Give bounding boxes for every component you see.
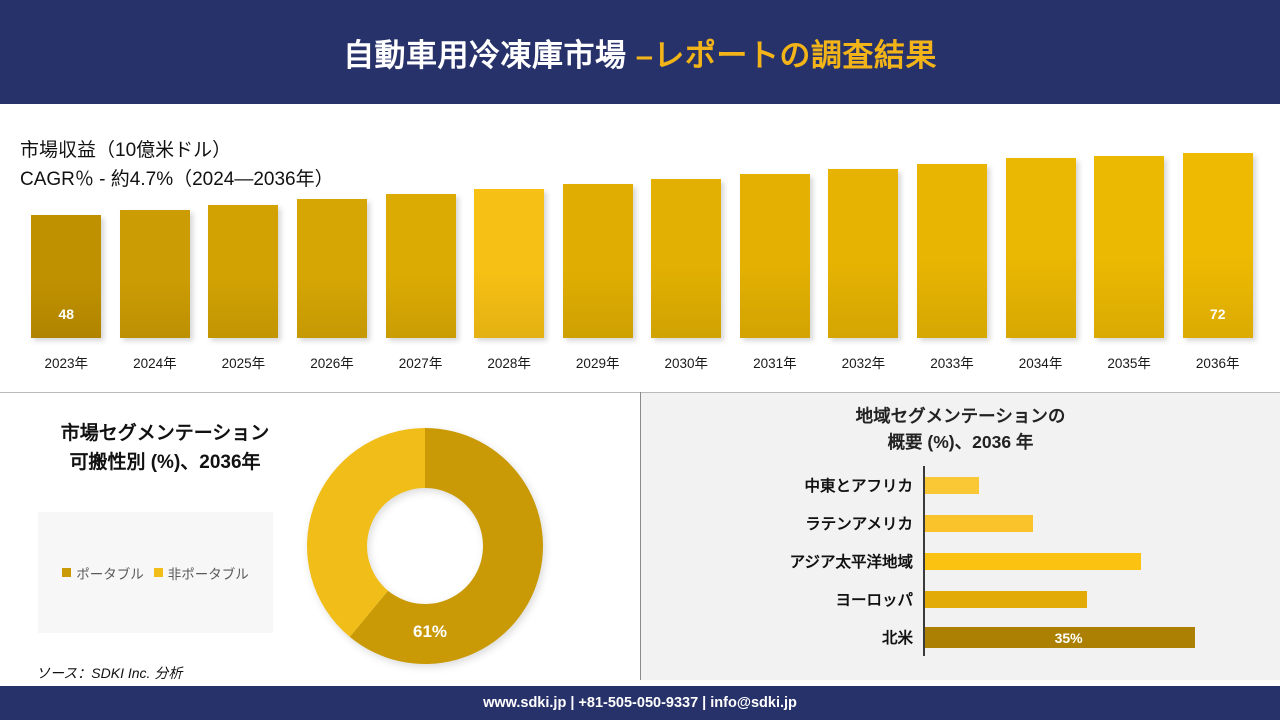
- source-note: ソース：SDKI Inc. 分析: [36, 663, 182, 683]
- legend-label: ポータブル: [76, 563, 144, 583]
- x-axis-label: 2024年: [112, 352, 198, 372]
- x-axis-label: 2030年: [643, 352, 729, 372]
- region-row: ラテンアメリカ: [641, 504, 1280, 542]
- header-title-main: 自動車用冷凍庫市場: [343, 38, 636, 73]
- bar-column: [740, 174, 810, 338]
- regional-bar-chart: 中東とアフリカラテンアメリカアジア太平洋地域ヨーロッパ北米35%: [641, 466, 1280, 666]
- donut-panel-title: 市場セグメンテーション 可搬性別 (%)、2036年: [0, 419, 330, 478]
- region-bar-3: [925, 591, 1087, 608]
- bar-column: 72: [1183, 153, 1253, 338]
- bar-2027年: [386, 194, 456, 338]
- bar-value-label: 48: [31, 306, 101, 322]
- region-label-0: 中東とアフリカ: [641, 466, 913, 504]
- donut-legend-items: ポータブル非ポータブル: [38, 563, 273, 583]
- x-axis-label: 2031年: [732, 352, 818, 372]
- legend-swatch-icon: [154, 568, 163, 577]
- region-label-4: 北米: [641, 618, 913, 656]
- market-revenue-section: 市場収益（10億米ドル） CAGR％ - 約4.7%（2024―2036年） 4…: [0, 104, 1280, 392]
- bar-2026年: [297, 199, 367, 338]
- x-axis-label: 2036年: [1175, 352, 1261, 372]
- region-row: 北米35%: [641, 618, 1280, 656]
- header-title-accent: –レポートの調査結果: [636, 38, 937, 73]
- infographic-page: 自動車用冷凍庫市場 –レポートの調査結果 市場収益（10億米ドル） CAGR％ …: [0, 0, 1280, 720]
- bar-2030年: [651, 179, 721, 338]
- donut-svg: 61%: [300, 426, 550, 666]
- x-axis-label: 2023年: [23, 352, 109, 372]
- bar-column: [1094, 156, 1164, 338]
- bar-column: 48: [31, 215, 101, 338]
- bar-column: [828, 169, 898, 338]
- bar-2028年: [474, 189, 544, 338]
- bar-2036年: 72: [1183, 153, 1253, 338]
- bar-column: [651, 179, 721, 338]
- bar-x-axis-labels: 2023年2024年2025年2026年2027年2028年2029年2030年…: [22, 346, 1262, 372]
- bar-column: [120, 210, 190, 338]
- bar-2034年: [1006, 158, 1076, 338]
- region-title-line2: 概要 (%)、2036 年: [641, 429, 1280, 455]
- bar-value-label: 72: [1183, 306, 1253, 322]
- bar-column: [1006, 158, 1076, 338]
- x-axis-label: 2033年: [909, 352, 995, 372]
- region-panel-title: 地域セグメンテーションの 概要 (%)、2036 年: [641, 403, 1280, 456]
- bar-column: [917, 164, 987, 338]
- region-title-line1: 地域セグメンテーションの: [641, 403, 1280, 429]
- donut-title-line2: 可搬性別 (%)、2036年: [0, 448, 330, 477]
- bar-series: 4872: [22, 138, 1262, 338]
- bar-column: [386, 194, 456, 338]
- region-label-2: アジア太平洋地域: [641, 542, 913, 580]
- region-row: アジア太平洋地域: [641, 542, 1280, 580]
- bar-column: [297, 199, 367, 338]
- bar-2031年: [740, 174, 810, 338]
- bar-2032年: [828, 169, 898, 338]
- footer-contact: www.sdki.jp | +81-505-050-9337 | info@sd…: [483, 695, 797, 711]
- bar-2023年: 48: [31, 215, 101, 338]
- bar-column: [208, 205, 278, 338]
- bar-2025年: [208, 205, 278, 338]
- region-bar-0: [925, 477, 979, 494]
- region-bar-1: [925, 515, 1033, 532]
- header-title: 自動車用冷凍庫市場 –レポートの調査結果: [343, 30, 937, 75]
- page-header: 自動車用冷凍庫市場 –レポートの調査結果: [0, 0, 1280, 104]
- bar-column: [563, 184, 633, 338]
- bar-2033年: [917, 164, 987, 338]
- bar-2029年: [563, 184, 633, 338]
- region-row: 中東とアフリカ: [641, 466, 1280, 504]
- x-axis-label: 2032年: [820, 352, 906, 372]
- x-axis-label: 2035年: [1086, 352, 1172, 372]
- region-label-3: ヨーロッパ: [641, 580, 913, 618]
- bar-2035年: [1094, 156, 1164, 338]
- donut-chart: 61%: [300, 426, 550, 666]
- region-value-label: 35%: [1055, 630, 1083, 646]
- legend-item-1: 非ポータブル: [154, 563, 249, 583]
- x-axis-label: 2027年: [378, 352, 464, 372]
- region-bar-4: 35%: [925, 627, 1195, 648]
- x-axis-label: 2028年: [466, 352, 552, 372]
- legend-swatch-icon: [62, 568, 71, 577]
- legend-label: 非ポータブル: [168, 563, 249, 583]
- x-axis-label: 2034年: [998, 352, 1084, 372]
- donut-value-label: 61%: [413, 622, 447, 641]
- bar-2024年: [120, 210, 190, 338]
- x-axis-label: 2029年: [555, 352, 641, 372]
- region-bar-2: [925, 553, 1141, 570]
- x-axis-label: 2026年: [289, 352, 375, 372]
- region-label-1: ラテンアメリカ: [641, 504, 913, 542]
- donut-title-line1: 市場セグメンテーション: [0, 419, 330, 448]
- region-row: ヨーロッパ: [641, 580, 1280, 618]
- regional-segmentation-panel: 地域セグメンテーションの 概要 (%)、2036 年 中東とアフリカラテンアメリ…: [641, 393, 1280, 680]
- donut-legend: ポータブル非ポータブル: [38, 512, 273, 633]
- market-revenue-bar-chart: 4872 2023年2024年2025年2026年2027年2028年2029年…: [22, 120, 1262, 378]
- page-footer: www.sdki.jp | +81-505-050-9337 | info@sd…: [0, 686, 1280, 720]
- legend-item-0: ポータブル: [62, 563, 144, 583]
- x-axis-label: 2025年: [200, 352, 286, 372]
- bar-column: [474, 189, 544, 338]
